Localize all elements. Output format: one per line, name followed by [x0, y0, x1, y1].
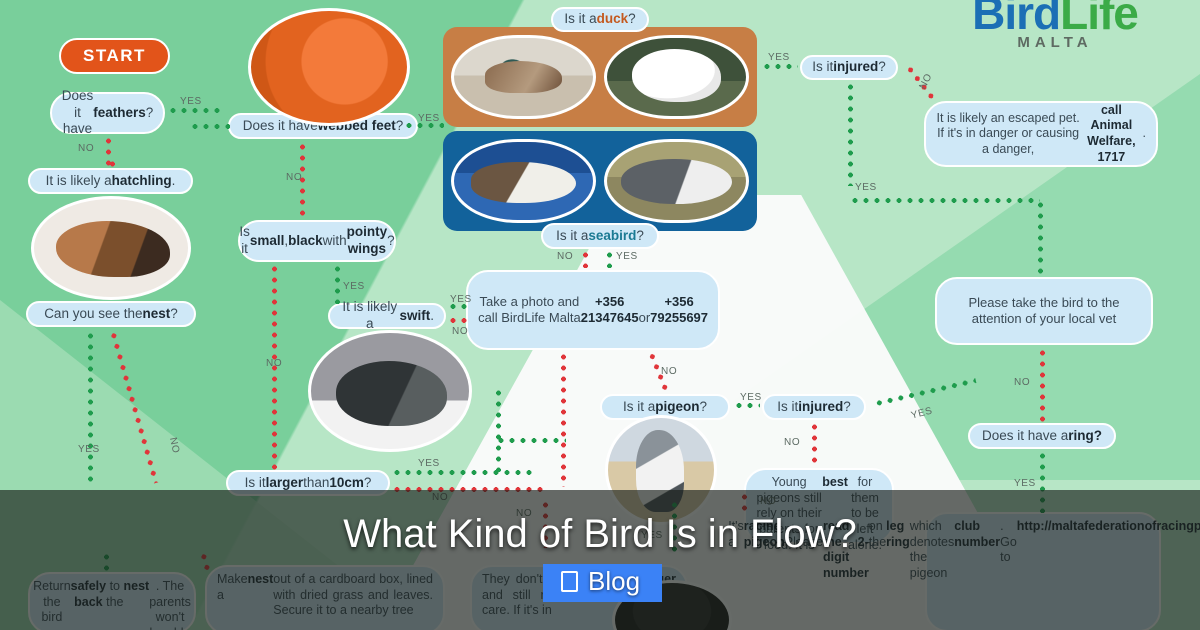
- edge-label-yes-5: YES: [855, 182, 877, 193]
- swift-photo: [308, 330, 472, 452]
- birdlife-malta-logo: BirdLife MALTA: [955, 0, 1155, 51]
- edge-injured1-yes-h: [850, 198, 1040, 203]
- logo-wordmark: BirdLife: [955, 0, 1155, 34]
- edge-label-yes-10: YES: [740, 392, 762, 403]
- edge-label-yes-12: YES: [1014, 478, 1036, 489]
- node-injured-2[interactable]: Is it injured?: [762, 394, 866, 420]
- start-button[interactable]: START: [59, 38, 170, 74]
- edge-nest-yes: [88, 331, 93, 486]
- edge-label-yes-6: YES: [616, 251, 638, 262]
- edge-injured2-no: [812, 422, 817, 466]
- edge-label-yes-8: YES: [450, 294, 472, 305]
- muscovy-photo: [604, 35, 749, 119]
- node-escaped-pet[interactable]: It is likely an escaped pet. If it's in …: [924, 101, 1158, 167]
- edge-label-no-1: NO: [78, 143, 94, 154]
- edge-label-no-11: NO: [1014, 377, 1030, 388]
- edge-label-no-8: NO: [661, 366, 677, 377]
- edge-swift-no: [448, 318, 470, 323]
- mallard-photo: [451, 35, 596, 119]
- node-nest[interactable]: Can you see the nest?: [26, 301, 196, 327]
- edge-label-yes-1: YES: [180, 96, 202, 107]
- edge-label-yes-2: YES: [78, 444, 100, 455]
- node-seabird[interactable]: Is it a seabird?: [541, 223, 659, 249]
- edge-vet-no: [1040, 348, 1045, 422]
- infographic-canvas: BirdLife MALTA START Does it have feathe…: [0, 0, 1200, 630]
- edge-label-no-3: NO: [286, 172, 302, 183]
- shearwater-1-photo: [451, 139, 596, 223]
- edge-label-no-6: NO: [266, 358, 282, 369]
- node-ring[interactable]: Does it have a ring?: [968, 423, 1116, 449]
- edge-label-no-5: NO: [557, 251, 573, 262]
- edge-larger-yes: [392, 470, 532, 475]
- node-swift[interactable]: It is likely a swift.: [328, 303, 446, 329]
- shearwater-2-photo: [604, 139, 749, 223]
- towel-photo: [248, 8, 410, 126]
- edge-call-down: [561, 352, 566, 487]
- logo-word-life: Life: [1060, 0, 1138, 39]
- node-hatchling[interactable]: It is likely a hatchling.: [28, 168, 193, 194]
- edge-label-yes-4: YES: [768, 52, 790, 63]
- edge-label-yes-3: YES: [418, 113, 440, 124]
- edge-larger-up: [496, 388, 501, 472]
- edge-feathers-yes-a: [168, 108, 220, 113]
- duck-photo-panel: [443, 27, 757, 127]
- logo-word-bird: Bird: [972, 0, 1060, 39]
- page-title: What Kind of Bird Is in Flow?: [0, 512, 1200, 557]
- node-call-birdlife[interactable]: Take a photo and call BirdLife Malta+356…: [466, 270, 720, 350]
- node-duck[interactable]: Is it a duck?: [551, 7, 649, 32]
- hatchling-photo: [31, 196, 191, 300]
- edge-label-yes-7: YES: [343, 281, 365, 292]
- document-icon: [561, 571, 578, 592]
- seabird-photo-panel: [443, 131, 757, 231]
- edge-pointy-yes: [335, 264, 340, 304]
- edge-feathers-yes-b: [190, 124, 230, 129]
- edge-seabird-no: [583, 250, 588, 268]
- node-feathers[interactable]: Does it have feathers?: [50, 92, 165, 134]
- edge-larger-branch: [496, 438, 566, 443]
- node-local-vet[interactable]: Please take the bird to the attention of…: [935, 277, 1153, 345]
- blog-button[interactable]: Blog: [543, 564, 662, 602]
- dark-overlay: [0, 490, 1200, 630]
- edge-seabird-yes: [607, 250, 612, 268]
- edge-duck-yes: [762, 64, 798, 69]
- node-pointy-wings[interactable]: Is it small, black with pointy wings?: [238, 220, 396, 262]
- edge-hatchling-stub: [110, 159, 115, 169]
- edge-pigeon-yes: [734, 403, 760, 408]
- edge-label-no-7: NO: [452, 326, 468, 337]
- blog-button-label: Blog: [588, 566, 640, 597]
- edge-label-yes-9: YES: [418, 458, 440, 469]
- edge-injured1-yes-v: [848, 82, 853, 186]
- edge-to-vet: [1038, 200, 1043, 276]
- edge-label-no-10: NO: [784, 437, 800, 448]
- node-injured-1[interactable]: Is it injured?: [800, 55, 898, 80]
